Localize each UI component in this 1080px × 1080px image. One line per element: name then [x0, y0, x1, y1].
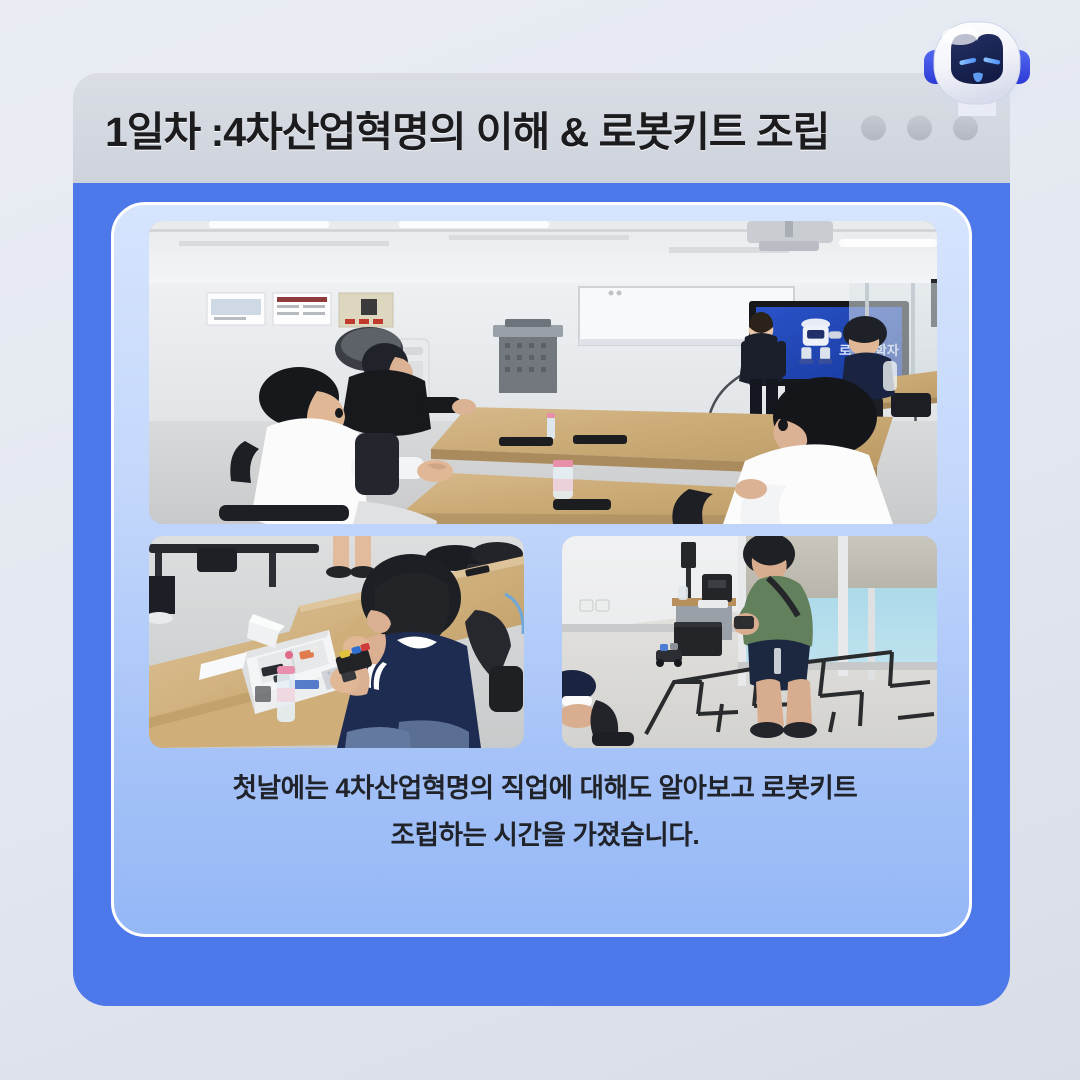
robot-kit-assembly-photo[interactable]: [149, 536, 524, 748]
caption-line-2: 조립하는 시간을 가졌습니다.: [140, 812, 950, 859]
classroom-lecture-photo[interactable]: 로봇공학자: [149, 221, 937, 524]
robot-maze-test-illustration: [562, 536, 937, 748]
slide-header: 1일차 :4차산업혁명의 이해 & 로봇키트 조립: [73, 73, 1010, 183]
caption-line-1: 첫날에는 4차산업혁명의 직업에 대해도 알아보고 로봇키트: [140, 765, 950, 812]
robot-maze-test-photo[interactable]: [562, 536, 937, 748]
robot-kit-assembly-illustration: [149, 536, 524, 748]
water-bottle: [277, 666, 295, 722]
page-title: 1일차 :4차산업혁명의 이해 & 로봇키트 조립: [105, 98, 829, 158]
robot-head-icon[interactable]: [918, 12, 1036, 120]
content-panel: 로봇공학자: [73, 183, 1010, 1006]
robot-head-glyph: [918, 12, 1036, 120]
content-card: 로봇공학자: [111, 202, 972, 937]
slide-card: 1일차 :4차산업혁명의 이해 & 로봇키트 조립: [73, 73, 1010, 1006]
classroom-lecture-illustration: 로봇공학자: [149, 221, 937, 524]
window-dot-1[interactable]: [861, 116, 886, 141]
photo-gallery: 로봇공학자: [149, 221, 937, 748]
slide-caption: 첫날에는 4차산업혁명의 직업에 대해도 알아보고 로봇키트 조립하는 시간을 …: [140, 765, 950, 859]
